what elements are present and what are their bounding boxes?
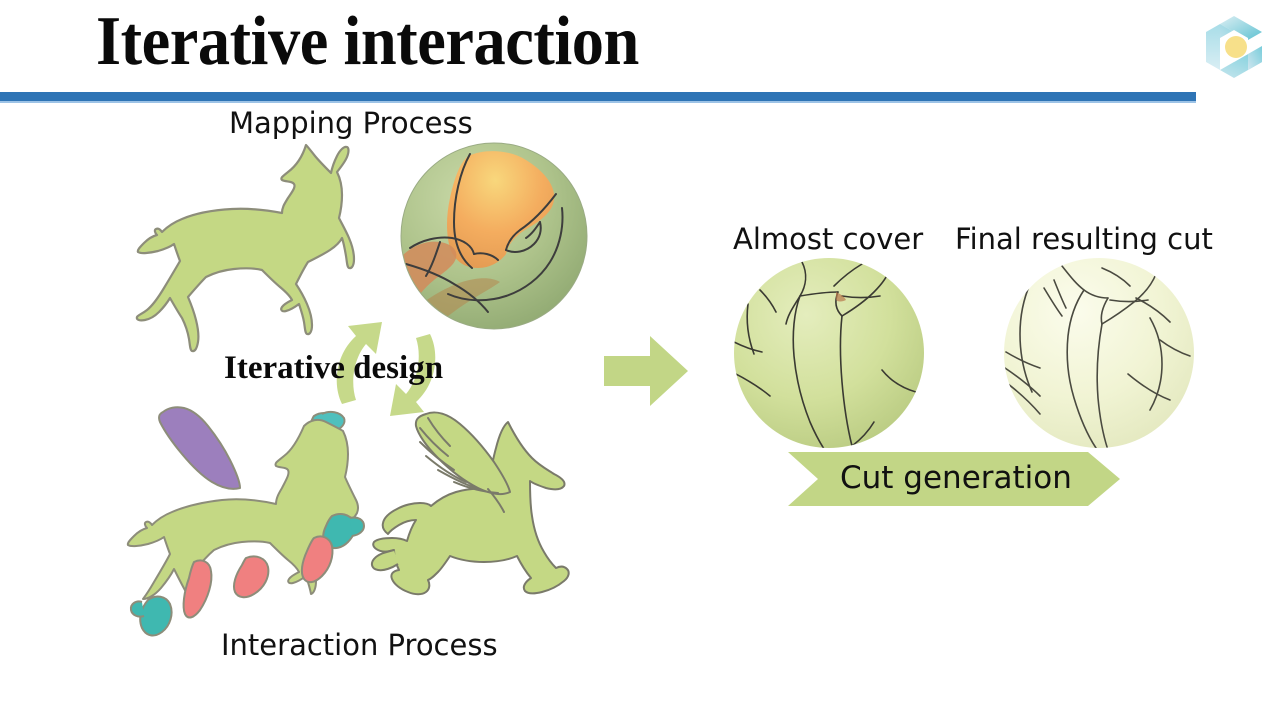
- label-final-resulting-cut: Final resulting cut: [955, 222, 1213, 256]
- mapped-sphere-figure: [396, 138, 592, 334]
- page-title: Iterative interaction: [96, 2, 639, 82]
- brand-logo-icon: [1196, 8, 1272, 86]
- title-divider-rule-thin: [0, 101, 1196, 103]
- label-almost-cover: Almost cover: [733, 222, 923, 256]
- label-iterative-design: Iterative design: [224, 350, 443, 387]
- label-cut-generation: Cut generation: [840, 460, 1072, 496]
- label-mapping-process: Mapping Process: [229, 106, 473, 140]
- process-arrow-right-icon: [604, 336, 688, 406]
- griffin-silhouette-figure: [368, 404, 602, 630]
- sphere-final-cut-figure: [1000, 254, 1198, 452]
- segmented-unicorn-figure: [118, 392, 370, 636]
- sphere-almost-cover-figure: [730, 254, 928, 452]
- title-divider-rule: [0, 92, 1196, 101]
